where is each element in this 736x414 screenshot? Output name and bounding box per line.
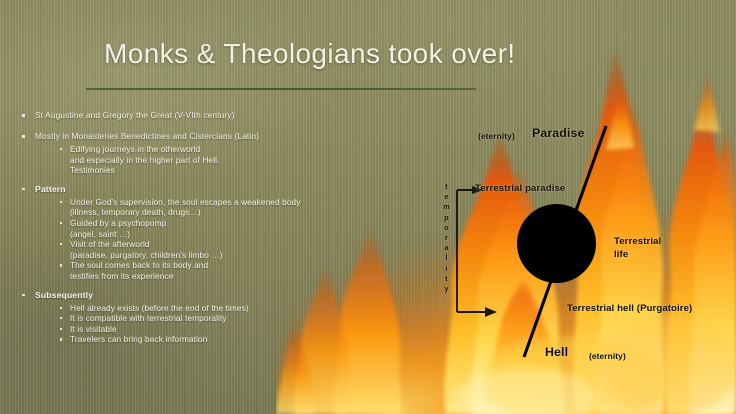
bullet-continuation-line: (illness, temporary death, drugs…)	[18, 207, 318, 218]
presentation-slide: Monks & Theologians took over! St August…	[0, 0, 736, 414]
bullet-level-2: The soul comes back to its body and	[18, 260, 318, 271]
title-underline	[86, 88, 476, 90]
bullet-level-2: Visit of the afterworld	[18, 239, 318, 250]
bullet-level-2: Travelers can bring back information	[18, 334, 318, 345]
slide-title: Monks & Theologians took over!	[104, 38, 515, 70]
bullet-level-1: Mostly in Monasteries Benedictines and C…	[18, 131, 318, 142]
bullet-level-1: Subsequently	[18, 290, 318, 301]
bullet-list: St Augustine and Gregory the Great (V-VI…	[18, 110, 318, 345]
bullet-spacer	[18, 123, 318, 131]
bullet-continuation-line: (paradise, purgatory, children's limbo ……	[18, 250, 318, 261]
bullet-level-2: Guided by a psychopomp	[18, 218, 318, 229]
bullet-continuation-line: and especially in the higher part of Hel…	[18, 155, 318, 166]
bullet-spacer	[18, 176, 318, 184]
bullet-level-2: It is compatible with terrestrial tempor…	[18, 313, 318, 324]
bullet-level-2: Edifying journeys in the otherworld	[18, 144, 318, 155]
bullet-level-2: Hell already exists (before the end of t…	[18, 303, 318, 314]
bullet-continuation-line: testifies from its experience	[18, 271, 318, 282]
bullet-continuation-line: (angel, saint …)	[18, 229, 318, 240]
bullet-spacer	[18, 282, 318, 290]
bullet-continuation-line: Testimonies	[18, 165, 318, 176]
bullet-level-1: Pattern	[18, 184, 318, 195]
bullet-level-2: It is visitable	[18, 324, 318, 335]
bullet-level-2: Under God's supervision, the soul escape…	[18, 197, 318, 208]
bullet-level-1: St Augustine and Gregory the Great (V-VI…	[18, 110, 318, 121]
